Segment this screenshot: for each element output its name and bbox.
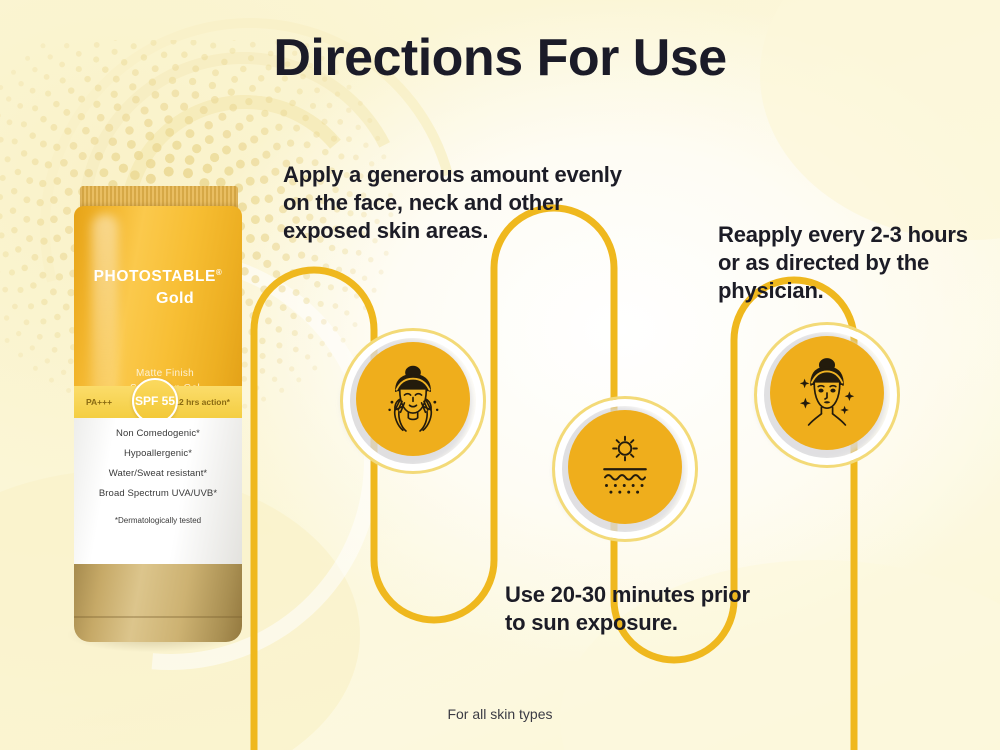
infographic-canvas: Directions For Use	[0, 0, 1000, 750]
claim-item: Non Comedogenic*	[116, 428, 200, 439]
product-sub-brand: Gold	[74, 290, 242, 308]
tube-crimp-seal	[80, 186, 238, 208]
product-tube-image: PHOTOSTABLE® Gold Matte Finish Sunscreen…	[60, 186, 250, 656]
variant-line-1: Matte Finish	[88, 366, 242, 381]
node-circle	[770, 336, 884, 450]
sun-over-skin-icon	[588, 430, 662, 504]
step-3-text: Reapply every 2-3 hours or as directed b…	[718, 221, 983, 305]
node-circle	[568, 410, 682, 524]
tube-cap-seam	[74, 616, 242, 618]
claim-footnote: *Dermatologically tested	[115, 516, 201, 525]
step-2-text: Use 20-30 minutes prior to sun exposure.	[505, 581, 755, 637]
pa-rating: PA+++	[86, 397, 112, 407]
step-node-1[interactable]	[348, 336, 478, 466]
duration-claim: 12 hrs action*	[174, 397, 230, 407]
footer-note: For all skin types	[0, 706, 1000, 722]
glowing-face-icon	[787, 353, 867, 433]
brand-text: PHOTOSTABLE	[94, 268, 216, 285]
tube-claims-panel: Non Comedogenic* Hypoallergenic* Water/S…	[74, 418, 242, 566]
tube-cap	[74, 564, 242, 642]
step-node-2[interactable]	[560, 404, 690, 534]
woman-applying-cream-icon	[374, 360, 452, 438]
claim-item: Hypoallergenic*	[124, 448, 192, 459]
step-node-3[interactable]	[762, 330, 892, 460]
claim-item: Water/Sweat resistant*	[109, 468, 207, 479]
registered-mark: ®	[216, 268, 223, 277]
product-brand-name: PHOTOSTABLE®	[74, 268, 242, 286]
page-title: Directions For Use	[0, 28, 1000, 88]
claim-item: Broad Spectrum UVA/UVB*	[99, 488, 217, 499]
node-circle	[356, 342, 470, 456]
step-1-text: Apply a generous amount evenly on the fa…	[283, 161, 628, 245]
